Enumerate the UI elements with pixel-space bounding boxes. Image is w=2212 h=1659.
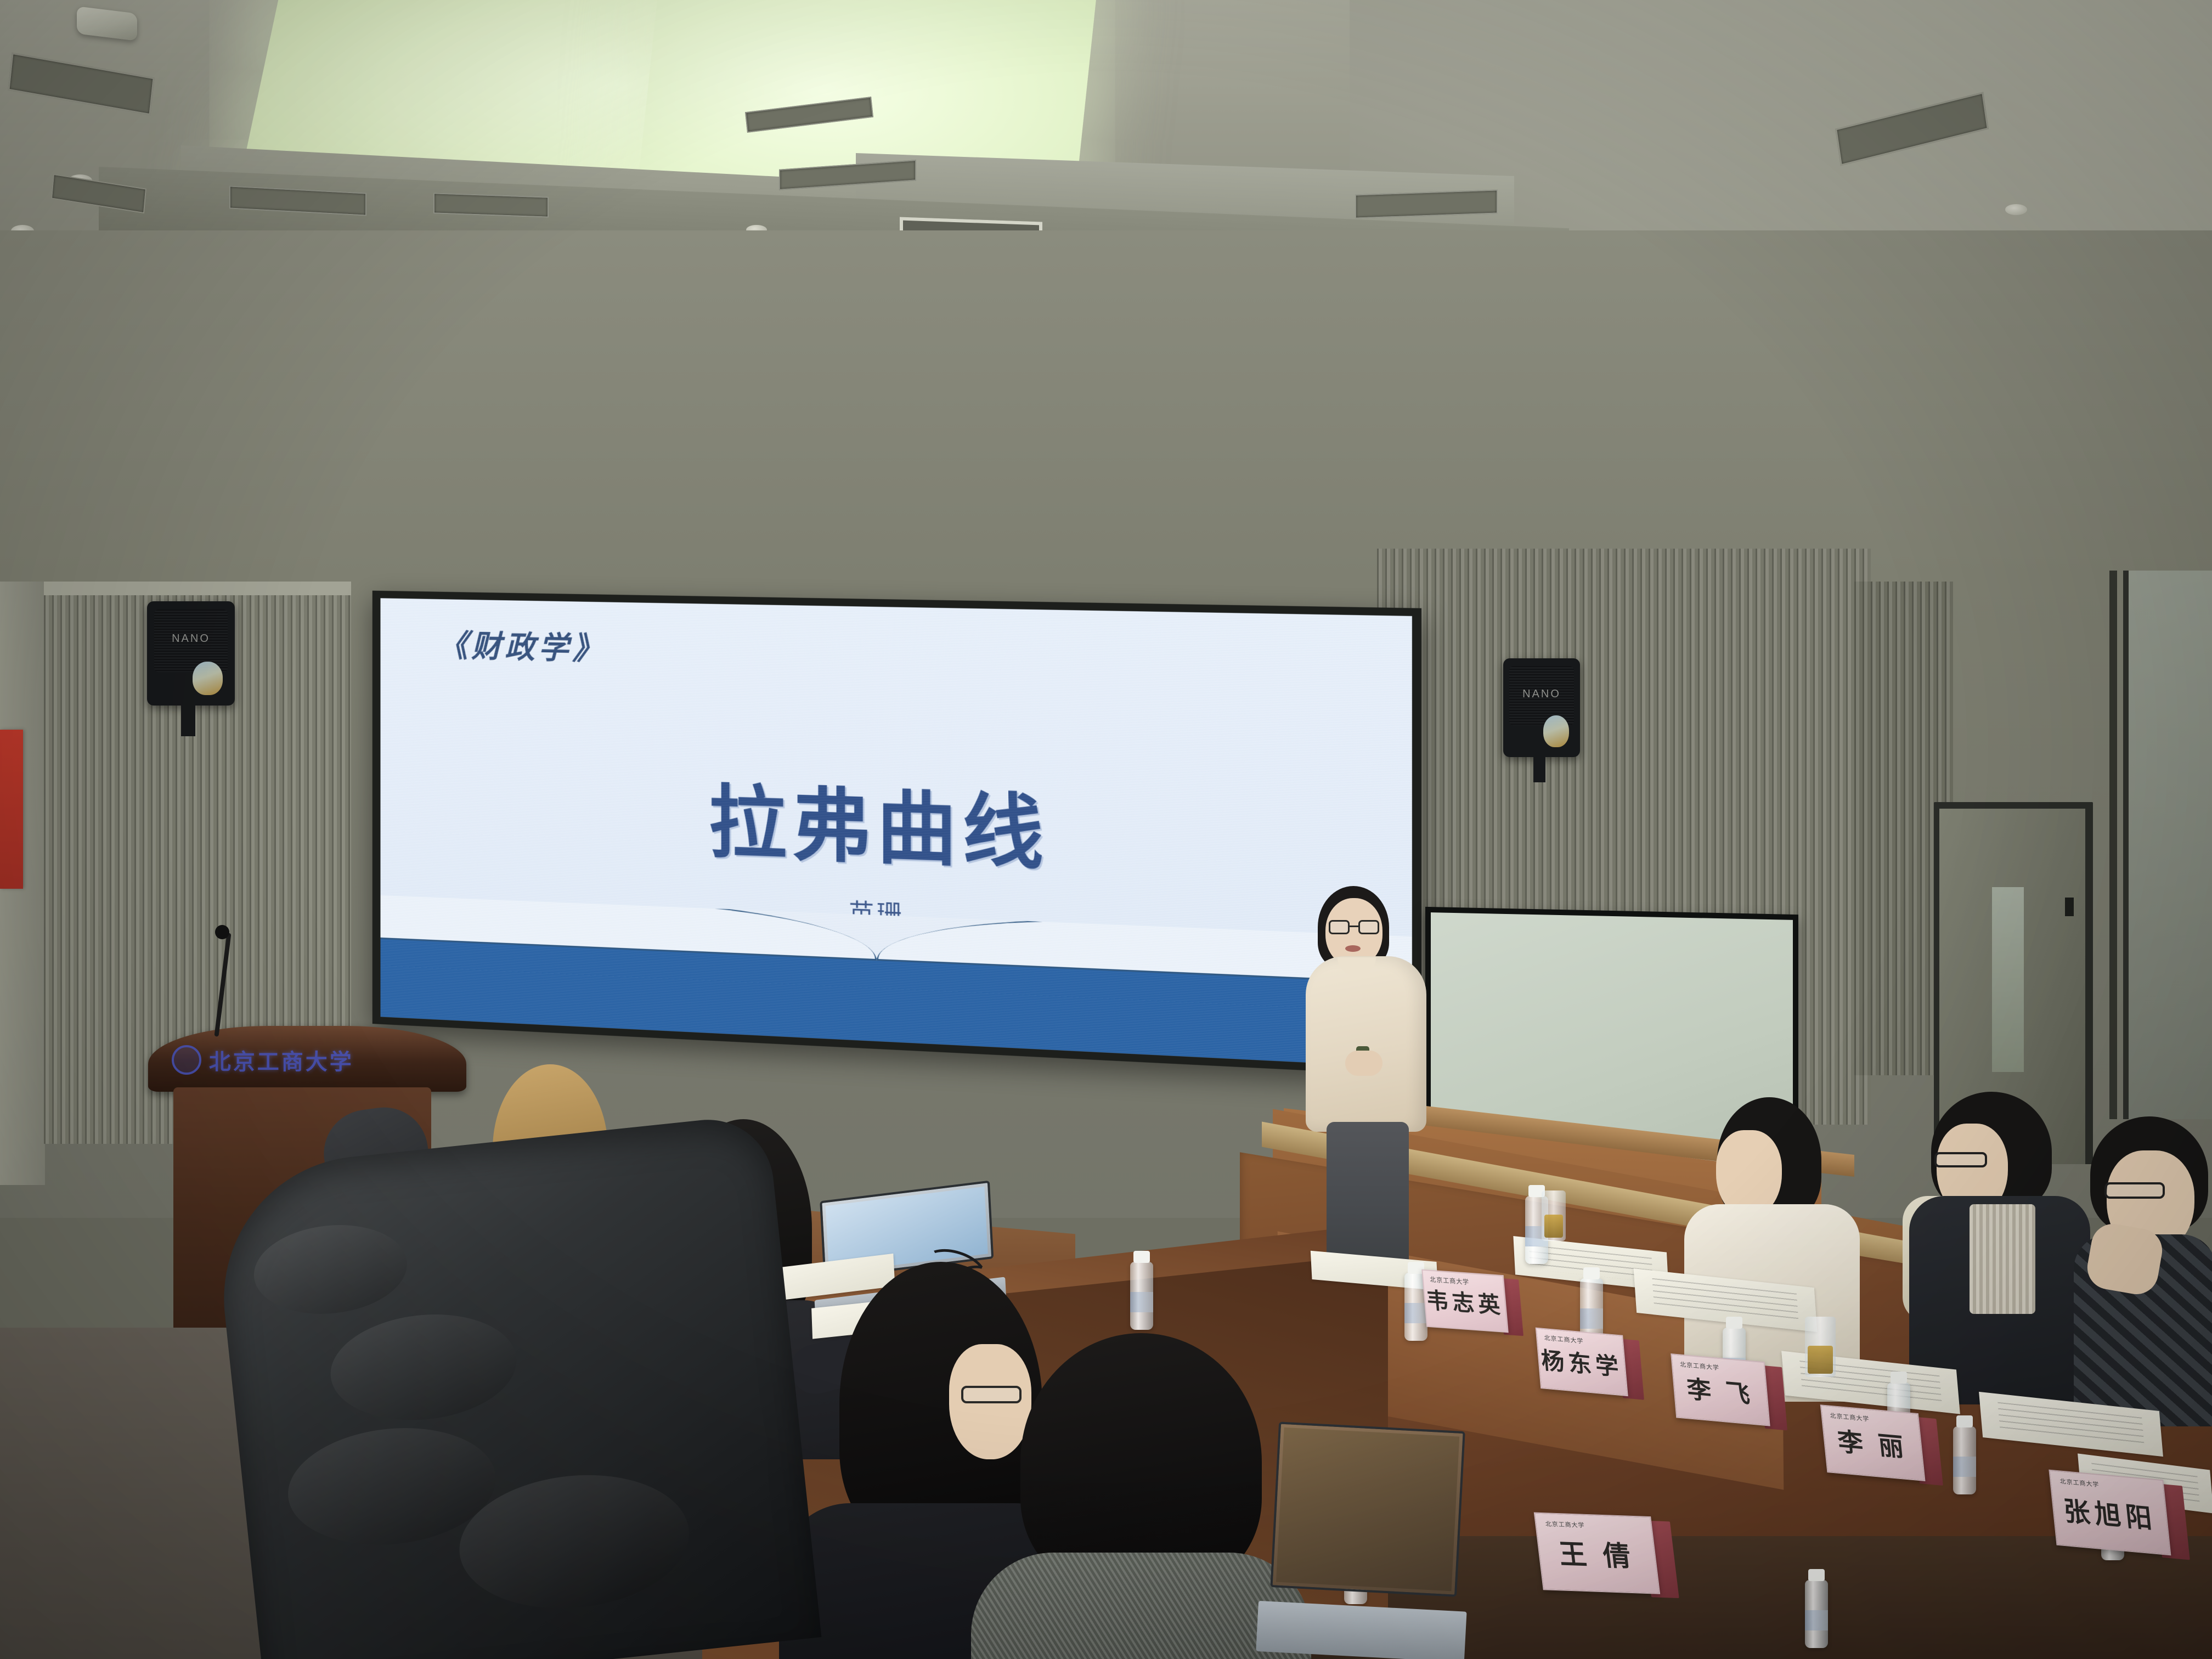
nameplate: 北京工商大学 李 飞 xyxy=(1671,1353,1770,1426)
nameplate-name-label: 李 飞 xyxy=(1685,1369,1756,1411)
tea-liquid xyxy=(1808,1346,1833,1374)
bottle-label xyxy=(1580,1308,1603,1329)
water-bottle[interactable] xyxy=(1130,1262,1153,1330)
bottle-cap-icon xyxy=(1133,1251,1150,1263)
attendee-resting-chin xyxy=(2074,1116,2212,1424)
nameplate-name-label: 张旭阳 xyxy=(2062,1489,2158,1536)
bottle-cap-icon xyxy=(1956,1415,1973,1427)
laptop-lid xyxy=(1270,1421,1465,1597)
attendee-with-scarf xyxy=(1909,1092,2096,1404)
nameplate-face: 北京工商大学 韦志英 xyxy=(1421,1269,1508,1333)
podium-institution-logo: 北京工商大学 xyxy=(172,1044,354,1076)
glass-partition-mullion xyxy=(2109,571,2117,1119)
door-glass-panel xyxy=(1992,887,2024,1072)
slide-main-title: 拉弗曲线 xyxy=(380,749,1412,899)
laptop-foreground[interactable] xyxy=(1267,1421,1465,1659)
speaker-driver-icon xyxy=(1543,715,1570,747)
glass-partition xyxy=(2123,571,2212,1119)
presenter-mouth xyxy=(1345,945,1361,952)
red-wall-banner xyxy=(0,730,23,889)
bottle-cap-icon xyxy=(1808,1569,1825,1581)
water-bottle[interactable] xyxy=(1805,1580,1828,1648)
bottle-label xyxy=(1404,1303,1427,1323)
glasses-icon xyxy=(1329,920,1379,934)
projection-screen: 《财政学》 拉弗曲线 苗珊 xyxy=(373,591,1421,1076)
speaker-mount-bracket xyxy=(1533,757,1545,782)
speaker-mount-bracket xyxy=(181,706,195,736)
bottle-cap-icon xyxy=(1726,1317,1742,1329)
nameplate-name-label: 李 丽 xyxy=(1836,1421,1910,1464)
nameplate: 北京工商大学 李 丽 xyxy=(1820,1404,1926,1481)
water-bottle[interactable] xyxy=(1953,1426,1976,1494)
nameplate-face: 北京工商大学 王 倩 xyxy=(1534,1513,1660,1594)
tea-liquid xyxy=(1544,1215,1563,1238)
nameplate-face: 北京工商大学 张旭阳 xyxy=(2049,1470,2171,1556)
bottle-cap-icon xyxy=(1583,1267,1600,1279)
nameplate: 北京工商大学 张旭阳 xyxy=(2049,1470,2171,1556)
microphone-icon xyxy=(215,925,229,939)
nameplate-face: 北京工商大学 李 飞 xyxy=(1671,1353,1770,1426)
nameplate: 北京工商大学 王 倩 xyxy=(1534,1513,1660,1594)
laptop-screen xyxy=(1276,1427,1459,1592)
tea-cup[interactable] xyxy=(1805,1317,1836,1377)
nameplate-name-label: 韦志英 xyxy=(1425,1282,1505,1320)
glasses-lens-left xyxy=(1329,920,1350,934)
nameplate: 北京工商大学 杨东学 xyxy=(1536,1328,1628,1396)
foreground-winter-coat xyxy=(210,1113,822,1659)
air-vent-grille xyxy=(1355,189,1498,218)
nameplate-face: 北京工商大学 杨东学 xyxy=(1536,1328,1628,1396)
document-lines xyxy=(1652,1278,1799,1322)
glasses-lens-right xyxy=(1358,920,1379,934)
bottle-cap-icon xyxy=(1891,1372,1907,1384)
nameplate-name-label: 杨东学 xyxy=(1539,1341,1623,1383)
presenter-sweater xyxy=(1306,956,1426,1132)
presenter xyxy=(1306,886,1454,1270)
laptop-keyboard[interactable] xyxy=(1256,1600,1467,1659)
presenter-hands xyxy=(1345,1051,1383,1076)
wall-speaker-right: NANO xyxy=(1503,658,1580,757)
nameplate-org-label: 北京工商大学 xyxy=(2059,1477,2100,1489)
speaker-brand-label: NANO xyxy=(147,633,235,645)
speaker-brand-label: NANO xyxy=(1503,688,1580,701)
podium-institution-label: 北京工商大学 xyxy=(209,1044,354,1076)
coat-panel xyxy=(325,1306,522,1429)
university-seal-icon xyxy=(172,1045,201,1075)
nameplate: 北京工商大学 韦志英 xyxy=(1421,1269,1508,1333)
bottle-label xyxy=(1130,1292,1153,1312)
nameplate-name-label: 王 倩 xyxy=(1556,1532,1637,1575)
lecture-hall-photo: NANO NANO 《财政学》 拉弗曲线 苗珊 北京工商大学 xyxy=(0,0,2212,1659)
glasses-icon xyxy=(2104,1182,2165,1199)
bottle-label xyxy=(1805,1610,1828,1630)
door-lock-icon xyxy=(2065,898,2074,916)
air-vent-grille xyxy=(433,193,549,217)
presenter-trousers xyxy=(1327,1122,1409,1270)
smoke-detector-icon xyxy=(2005,204,2027,215)
bottle-label xyxy=(1953,1457,1976,1477)
attendee-striped-shirt xyxy=(1970,1204,2035,1314)
wall-speaker-left: NANO xyxy=(147,601,235,706)
tea-cup[interactable] xyxy=(1542,1190,1566,1241)
nameplate-org-label: 北京工商大学 xyxy=(1545,1519,1585,1530)
slide-surface: 《财政学》 拉弗曲线 苗珊 xyxy=(380,598,1412,1068)
glasses-icon xyxy=(1934,1152,1987,1167)
glasses-bridge xyxy=(1350,926,1358,927)
coat-panel xyxy=(250,1218,411,1321)
nameplate-face: 北京工商大学 李 丽 xyxy=(1820,1404,1926,1481)
document-lines xyxy=(1997,1402,2145,1446)
slide-course-title: 《财政学》 xyxy=(438,620,607,668)
speaker-driver-icon xyxy=(193,662,222,695)
podium-top-surface: 北京工商大学 xyxy=(148,1026,466,1092)
